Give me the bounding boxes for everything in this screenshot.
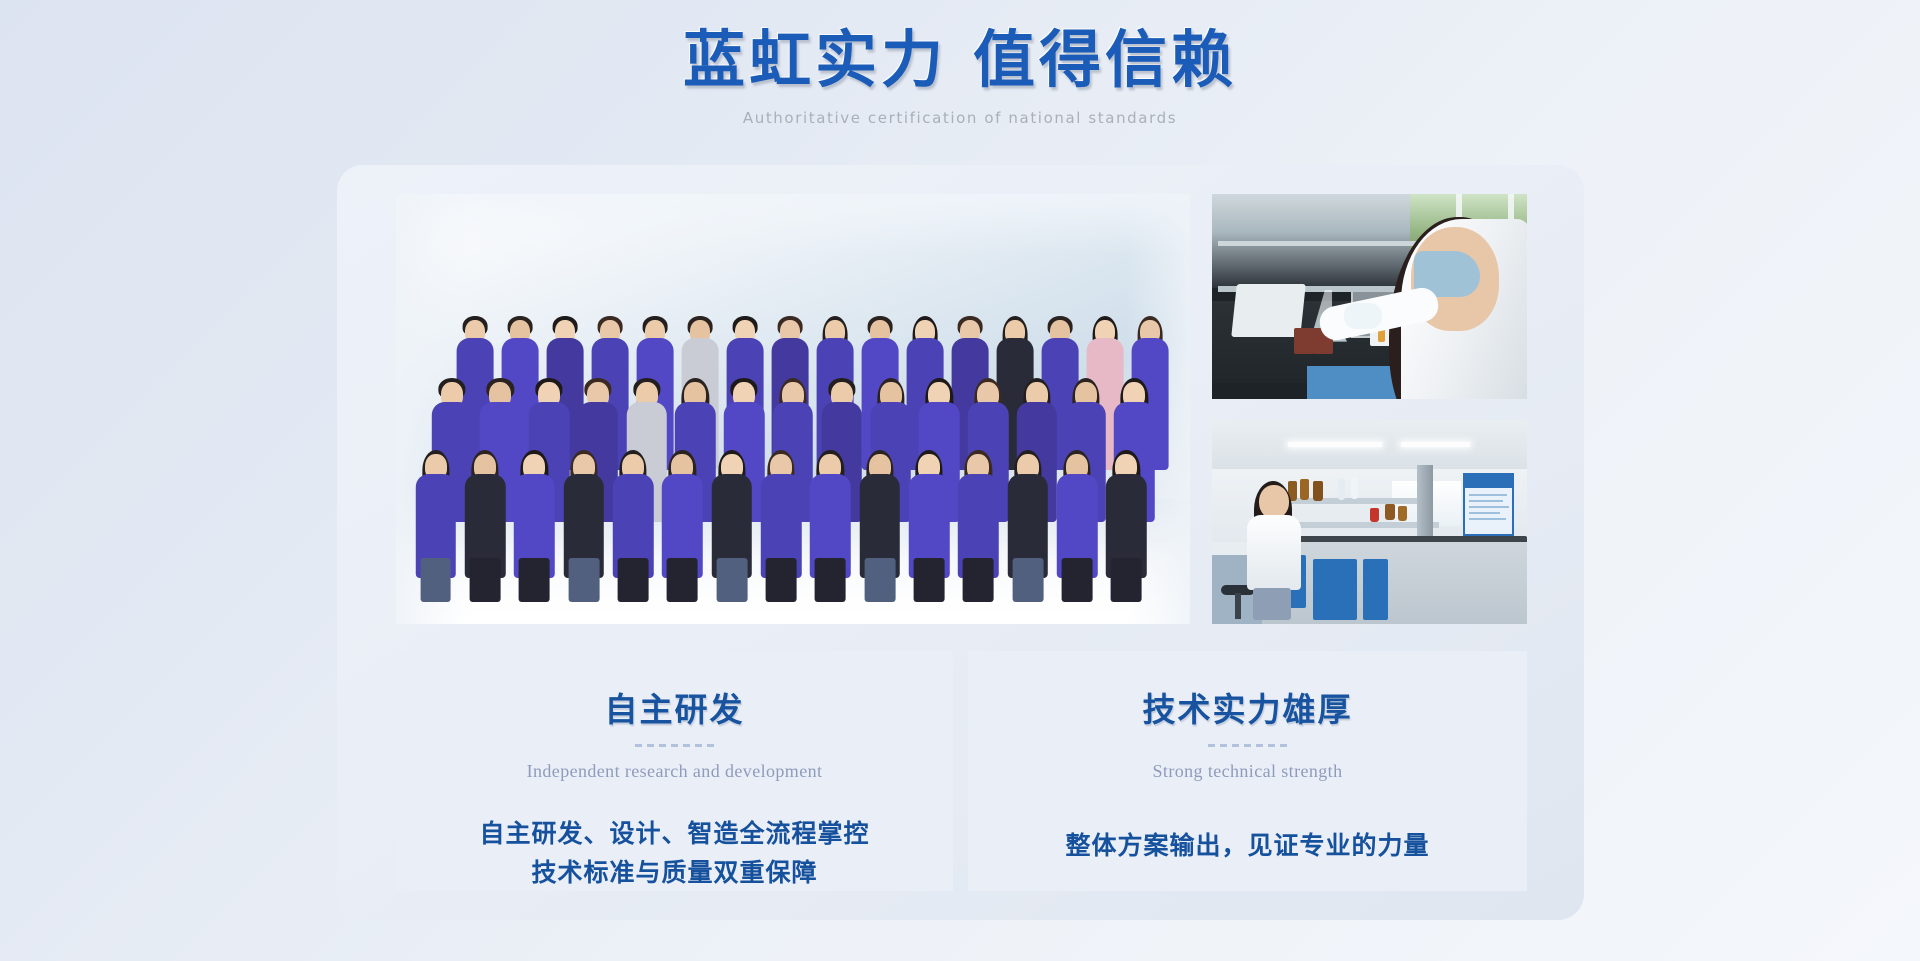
person-legs xyxy=(420,558,451,602)
page-title: 蓝虹实力值得信赖 xyxy=(0,26,1920,97)
amber-bottle xyxy=(1385,504,1395,520)
card-title: 技术实力雄厚 xyxy=(968,683,1527,731)
clear-bottle xyxy=(1338,479,1345,500)
person-figure xyxy=(660,450,704,560)
poster-header-band xyxy=(1465,475,1512,488)
person-legs xyxy=(1012,558,1043,602)
person-legs xyxy=(1111,558,1142,602)
promo-page: 蓝虹实力值得信赖 Authoritative certification of … xyxy=(0,0,1920,961)
poster-line xyxy=(1469,506,1509,508)
card-english-subtitle: Strong technical strength xyxy=(968,761,1527,782)
amber-bottle xyxy=(1313,481,1323,501)
person-legs xyxy=(963,558,994,602)
card-body-text: 整体方案输出，见证专业的力量 xyxy=(968,828,1527,867)
group-photo-scene xyxy=(396,194,1190,624)
person-figure xyxy=(858,450,902,560)
blue-drawer xyxy=(1363,559,1388,620)
lab-bench-scene xyxy=(1212,194,1527,399)
reagent-vial-a xyxy=(1294,328,1314,354)
amber-bottle xyxy=(1300,479,1309,500)
person-figure xyxy=(414,450,458,560)
feature-card-independent-rd[interactable]: 自主研发 Independent research and developmen… xyxy=(396,651,953,891)
dot-divider-icon xyxy=(1208,744,1288,747)
person-figure xyxy=(710,450,754,560)
content-panel: 自主研发 Independent research and developmen… xyxy=(337,165,1584,920)
card-body-line-1: 整体方案输出，见证专业的力量 xyxy=(968,828,1527,867)
feature-card-technical-strength[interactable]: 技术实力雄厚 Strong technical strength 整体方案输出，… xyxy=(968,651,1527,891)
person-legs xyxy=(815,558,846,602)
person-figure xyxy=(1006,450,1050,560)
card-title: 自主研发 xyxy=(396,683,953,731)
technician-trousers xyxy=(1253,588,1291,620)
person-figure xyxy=(956,450,1000,560)
person-legs xyxy=(914,558,945,602)
person-legs xyxy=(519,558,550,602)
person-legs xyxy=(864,558,895,602)
person-figure xyxy=(907,450,951,560)
person-figure xyxy=(512,450,556,560)
page-subtitle: Authoritative certification of national … xyxy=(0,109,1920,127)
person-legs xyxy=(1062,558,1093,602)
researcher-glove xyxy=(1344,303,1382,329)
card-body-text: 自主研发、设计、智造全流程掌控 技术标准与质量双重保障 xyxy=(396,816,953,894)
feature-cards: 自主研发 Independent research and developmen… xyxy=(396,651,1527,891)
lab-room-scene xyxy=(1212,420,1527,624)
red-cap-bottle xyxy=(1370,508,1379,522)
person-figure xyxy=(759,450,803,560)
card-body-line-1: 自主研发、设计、智造全流程掌控 xyxy=(396,816,953,855)
blue-drawer xyxy=(1313,559,1357,620)
card-body-line-2: 技术标准与质量双重保障 xyxy=(396,855,953,894)
person-legs xyxy=(568,558,599,602)
media-gallery xyxy=(396,194,1527,624)
person-figure xyxy=(808,450,852,560)
poster-line xyxy=(1469,500,1503,502)
ceiling-light-1 xyxy=(1288,442,1383,447)
people-crowd xyxy=(396,301,1190,546)
lab-room-overview-photo[interactable] xyxy=(1212,420,1527,624)
person-legs xyxy=(716,558,747,602)
person-figure xyxy=(1055,450,1099,560)
person-legs xyxy=(667,558,698,602)
person-legs xyxy=(470,558,501,602)
person-figure xyxy=(611,450,655,560)
dot-divider-icon xyxy=(635,744,715,747)
clear-bottle xyxy=(1351,477,1358,499)
page-title-part1: 蓝虹实力 xyxy=(683,27,947,95)
person-figure xyxy=(463,450,507,560)
amber-bottle xyxy=(1398,506,1407,521)
team-group-photo[interactable] xyxy=(396,194,1190,624)
page-header: 蓝虹实力值得信赖 Authoritative certification of … xyxy=(0,26,1920,127)
person-figure xyxy=(1104,450,1148,560)
person-legs xyxy=(766,558,797,602)
safety-poster xyxy=(1463,473,1514,536)
ceiling-light-2 xyxy=(1401,442,1470,447)
technician-lab-coat xyxy=(1247,515,1301,590)
poster-line xyxy=(1469,518,1506,520)
page-title-part2: 值得信赖 xyxy=(973,27,1237,95)
card-english-subtitle: Independent research and development xyxy=(396,761,953,782)
lab-technician xyxy=(1247,485,1301,620)
poster-line xyxy=(1469,512,1500,514)
person-figure xyxy=(562,450,606,560)
person-legs xyxy=(618,558,649,602)
poster-line xyxy=(1469,494,1507,496)
lab-researcher-pipette-photo[interactable] xyxy=(1212,194,1527,399)
